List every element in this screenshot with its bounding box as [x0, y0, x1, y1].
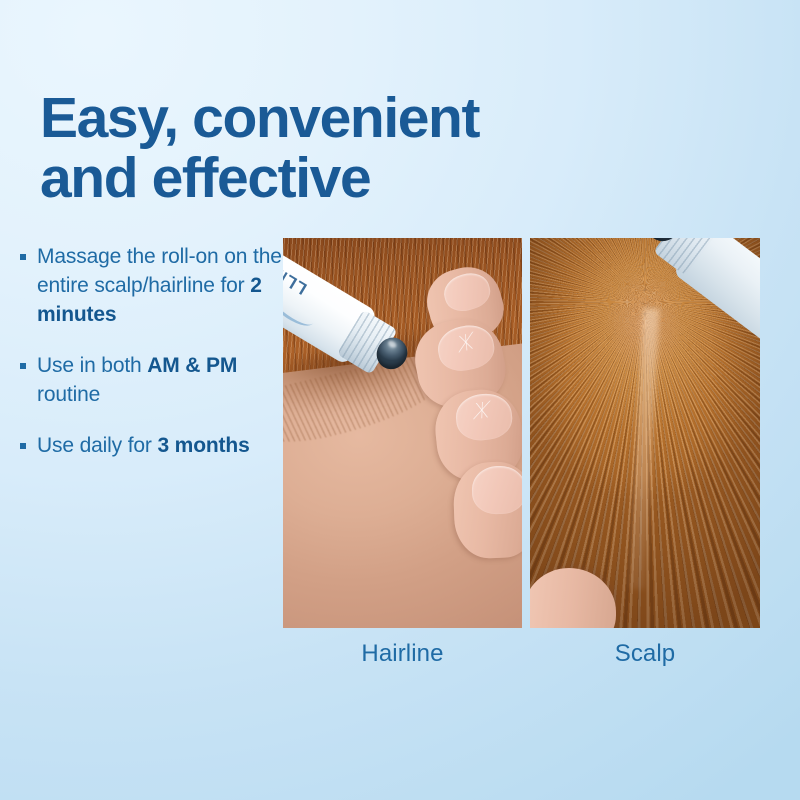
- instruction-list: Massage the roll-on on the entire scalp/…: [20, 243, 288, 461]
- list-item-text: Use in both AM & PM routine: [37, 354, 237, 406]
- list-item: Use in both AM & PM routine: [20, 352, 288, 410]
- promo-poster: Easy, convenient and effective Massage t…: [0, 0, 800, 800]
- hand-fingers: [410, 272, 522, 612]
- caption-scalp: Scalp: [530, 640, 760, 668]
- bullet-square-icon: [20, 363, 26, 369]
- photo-hairline: LLMO: [283, 238, 522, 628]
- list-item: Use daily for 3 months: [20, 432, 288, 461]
- bullet-square-icon: [20, 254, 26, 260]
- list-item: Massage the roll-on on the entire scalp/…: [20, 243, 288, 330]
- list-item-text: Massage the roll-on on the entire scalp/…: [37, 245, 282, 326]
- page-title: Easy, convenient and effective: [40, 88, 600, 209]
- caption-hairline: Hairline: [283, 640, 522, 668]
- hairline-scene: LLMO: [283, 238, 522, 628]
- fingernail: [471, 465, 522, 515]
- photo-scalp: [530, 238, 760, 628]
- bullet-square-icon: [20, 443, 26, 449]
- list-item-text: Use daily for 3 months: [37, 434, 250, 457]
- scalp-scene: [530, 238, 760, 628]
